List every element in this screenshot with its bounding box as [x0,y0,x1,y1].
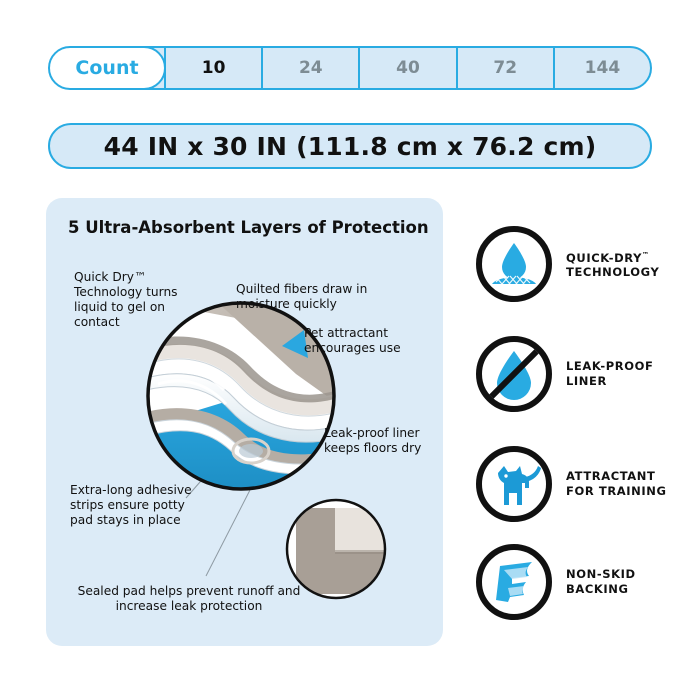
count-selector-label: Count [48,46,166,90]
feature-label-line1: QUICK-DRY [566,250,642,264]
count-selector[interactable]: Count 10 24 40 72 144 [48,46,652,90]
non-skid-icon [476,544,552,620]
feature-quick-dry-technology: QUICK-DRY™ TECHNOLOGY [476,222,691,306]
callout-adhesive-strips: Extra-long adhesive strips ensure potty … [70,483,200,528]
feature-label-line2: FOR TRAINING [566,484,667,498]
feature-label-line2: BACKING [566,582,629,596]
no-leak-drop-icon [476,336,552,412]
count-option-0[interactable]: 10 [164,48,261,88]
feature-non-skid-backing: NON-SKID BACKING [476,540,691,624]
feature-label-line1: LEAK-PROOF [566,359,653,373]
feature-label: NON-SKID BACKING [566,567,636,597]
layers-diagram-panel: 5 Ultra-Absorbent Layers of Protection [46,198,443,646]
feature-label-line1: ATTRACTANT [566,469,655,483]
trademark-symbol: ™ [642,251,650,259]
feature-label-line2: TECHNOLOGY [566,265,659,279]
feature-label-line2: LINER [566,374,607,388]
feature-label-line1: NON-SKID [566,567,636,581]
callout-leak-proof-liner: Leak-proof liner keeps floors dry [324,426,424,456]
count-option-3[interactable]: 72 [456,48,553,88]
feature-label: QUICK-DRY™ TECHNOLOGY [566,248,659,281]
pad-cutaway-illustration [46,198,443,646]
water-drop-mesh-icon [476,226,552,302]
callout-pet-attractant: Pet attractant encourages use [304,326,424,356]
feature-attractant-for-training: ATTRACTANT FOR TRAINING [476,442,691,526]
callout-quilted-fibers: Quilted fibers draw in moisture quickly [236,282,376,312]
callout-sealed-pad: Sealed pad helps prevent runoff and incr… [64,584,314,614]
feature-label: ATTRACTANT FOR TRAINING [566,469,667,499]
feature-leak-proof-liner: LEAK-PROOF LINER [476,332,691,416]
feature-label: LEAK-PROOF LINER [566,359,653,389]
dog-icon [476,446,552,522]
count-option-1[interactable]: 24 [261,48,358,88]
count-option-2[interactable]: 40 [358,48,455,88]
size-banner: 44 IN x 30 IN (111.8 cm x 76.2 cm) [48,123,652,169]
count-option-4[interactable]: 144 [553,48,650,88]
callout-quick-dry: Quick Dry™ Technology turns liquid to ge… [74,270,204,330]
